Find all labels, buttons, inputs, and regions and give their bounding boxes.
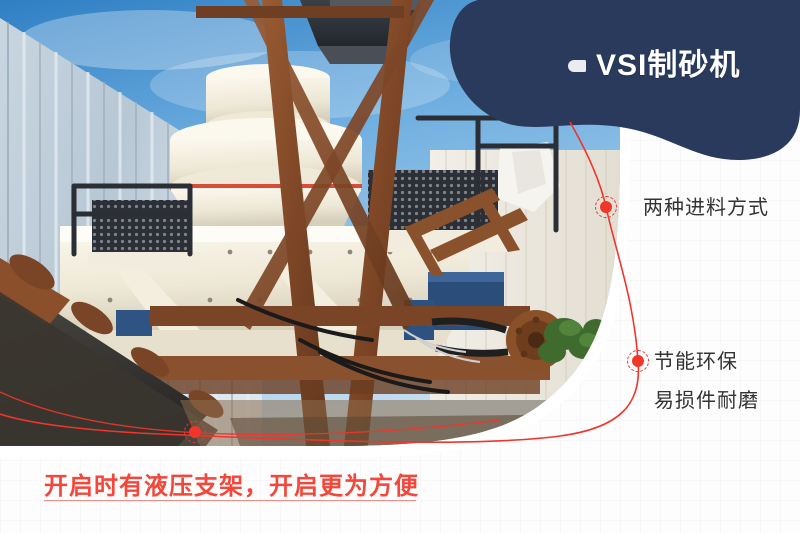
product-feature-banner: 7 (0, 0, 800, 533)
dot-core-icon (189, 426, 201, 438)
bottom-caption: 开启时有液压支架，开启更为方便 (44, 466, 419, 501)
bottom-caption-underline (44, 500, 416, 501)
title-bullet-icon (568, 60, 586, 72)
dot-core-icon (600, 201, 612, 213)
dot-core-icon (632, 355, 644, 367)
page-title: VSI制砂机 (596, 40, 740, 84)
callout-marker-bottom-icon[interactable] (184, 421, 206, 443)
callout-label-eco-line2: 易损件耐磨 (654, 384, 759, 413)
callout-marker-eco-icon[interactable] (627, 350, 649, 372)
callout-label-eco-line1: 节能环保 (654, 345, 738, 374)
callout-label-feed: 两种进料方式 (643, 191, 769, 220)
callout-marker-feed-icon[interactable] (595, 196, 617, 218)
